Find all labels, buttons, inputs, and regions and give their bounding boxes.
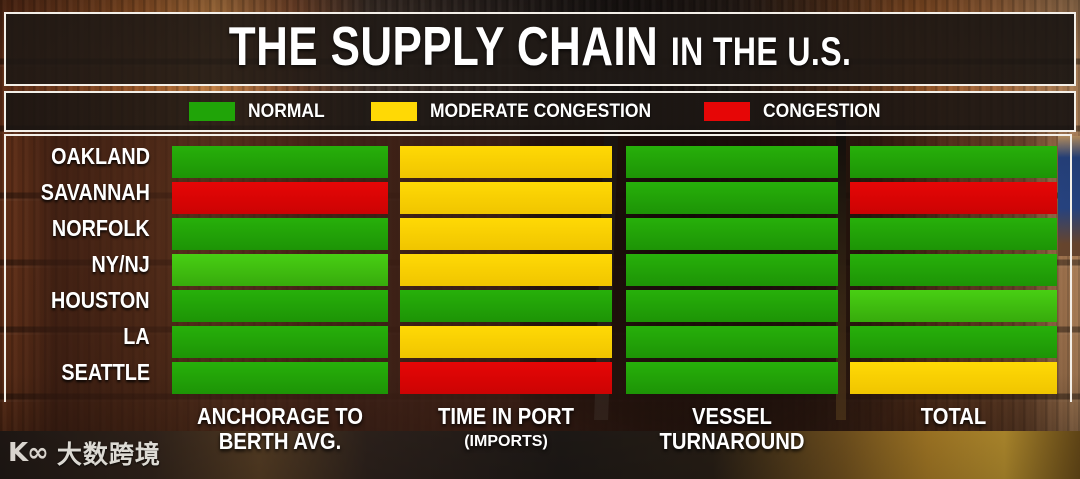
cell-la-anchorage[interactable]: [172, 326, 388, 358]
legend-item-moderate: MODERATE CONGESTION: [371, 101, 670, 123]
legend-label-normal: NORMAL: [248, 101, 325, 123]
column-time-in-port: [400, 146, 612, 396]
legend-item-normal: NORMAL: [189, 101, 331, 123]
row-label-la: LA: [124, 323, 150, 350]
cell-norfolk-vessel[interactable]: [626, 218, 838, 250]
row-label-norfolk: NORFOLK: [52, 215, 150, 242]
title-main: THE SUPPLY CHAIN: [229, 15, 671, 77]
column-vessel-turnaround: [626, 146, 838, 396]
cell-nynj-vessel[interactable]: [626, 254, 838, 286]
legend-label-congestion: CONGESTION: [763, 101, 881, 123]
column-footer-vessel: VESSEL TURNAROUND: [626, 404, 838, 454]
legend-swatch-normal: [189, 102, 235, 121]
title-panel: THE SUPPLY CHAIN IN THE U.S.: [4, 12, 1076, 86]
cell-la-total[interactable]: [850, 326, 1057, 358]
column-footer-anchorage-line2: BERTH AVG.: [185, 429, 375, 454]
cell-savannah-timeinport[interactable]: [400, 182, 612, 214]
cell-houston-anchorage[interactable]: [172, 290, 388, 322]
infographic-root: THE SUPPLY CHAIN IN THE U.S. NORMAL MODE…: [0, 0, 1080, 479]
cell-oakland-total[interactable]: [850, 146, 1057, 178]
legend-panel: NORMAL MODERATE CONGESTION CONGESTION: [4, 91, 1076, 132]
legend-item-congestion: CONGESTION: [704, 101, 891, 123]
column-footer-anchorage-line1: ANCHORAGE TO: [185, 404, 375, 429]
cell-savannah-total[interactable]: [850, 182, 1057, 214]
cell-savannah-anchorage[interactable]: [172, 182, 388, 214]
legend-swatch-moderate: [371, 102, 417, 121]
cell-oakland-timeinport[interactable]: [400, 146, 612, 178]
column-footer-vessel-line1: VESSEL: [639, 404, 826, 429]
page-title: THE SUPPLY CHAIN IN THE U.S.: [229, 19, 851, 80]
cell-houston-timeinport[interactable]: [400, 290, 612, 322]
cell-nynj-total[interactable]: [850, 254, 1057, 286]
cell-oakland-anchorage[interactable]: [172, 146, 388, 178]
cell-houston-vessel[interactable]: [626, 290, 838, 322]
column-anchorage-to-berth: [172, 146, 388, 396]
watermark-logo-icon: K∞: [8, 438, 48, 468]
legend-swatch-congestion: [704, 102, 750, 121]
cell-nynj-timeinport[interactable]: [400, 254, 612, 286]
cell-seattle-total[interactable]: [850, 362, 1057, 394]
watermark: K∞ 大数跨境: [8, 435, 161, 471]
column-footer-vessel-line2: TURNAROUND: [639, 429, 826, 454]
column-footer-total-line1: TOTAL: [862, 404, 1044, 429]
cell-seattle-vessel[interactable]: [626, 362, 838, 394]
legend-label-moderate: MODERATE CONGESTION: [430, 101, 651, 123]
cell-savannah-vessel[interactable]: [626, 182, 838, 214]
row-label-nynj: NY/NJ: [92, 251, 150, 278]
row-label-oakland: OAKLAND: [51, 143, 150, 170]
row-label-seattle: SEATTLE: [61, 359, 150, 386]
column-total: [850, 146, 1057, 396]
cell-houston-total[interactable]: [850, 290, 1057, 322]
cell-oakland-vessel[interactable]: [626, 146, 838, 178]
row-label-column: OAKLAND SAVANNAH NORFOLK NY/NJ HOUSTON L…: [0, 143, 158, 401]
cell-seattle-anchorage[interactable]: [172, 362, 388, 394]
cell-nynj-anchorage[interactable]: [172, 254, 388, 286]
column-footer-timeinport-line1: TIME IN PORT: [413, 404, 600, 429]
cell-la-vessel[interactable]: [626, 326, 838, 358]
column-footer-anchorage: ANCHORAGE TO BERTH AVG.: [172, 404, 388, 454]
cell-seattle-timeinport[interactable]: [400, 362, 612, 394]
cell-la-timeinport[interactable]: [400, 326, 612, 358]
column-footer-timeinport: TIME IN PORT (IMPORTS): [400, 404, 612, 454]
row-label-houston: HOUSTON: [51, 287, 150, 314]
cell-norfolk-anchorage[interactable]: [172, 218, 388, 250]
row-label-savannah: SAVANNAH: [41, 179, 150, 206]
title-suffix: IN THE U.S.: [671, 30, 851, 74]
cell-norfolk-timeinport[interactable]: [400, 218, 612, 250]
watermark-text: 大数跨境: [57, 435, 161, 471]
column-footer-timeinport-sub: (IMPORTS): [400, 429, 612, 454]
cell-norfolk-total[interactable]: [850, 218, 1057, 250]
column-footer-total: TOTAL: [850, 404, 1057, 429]
